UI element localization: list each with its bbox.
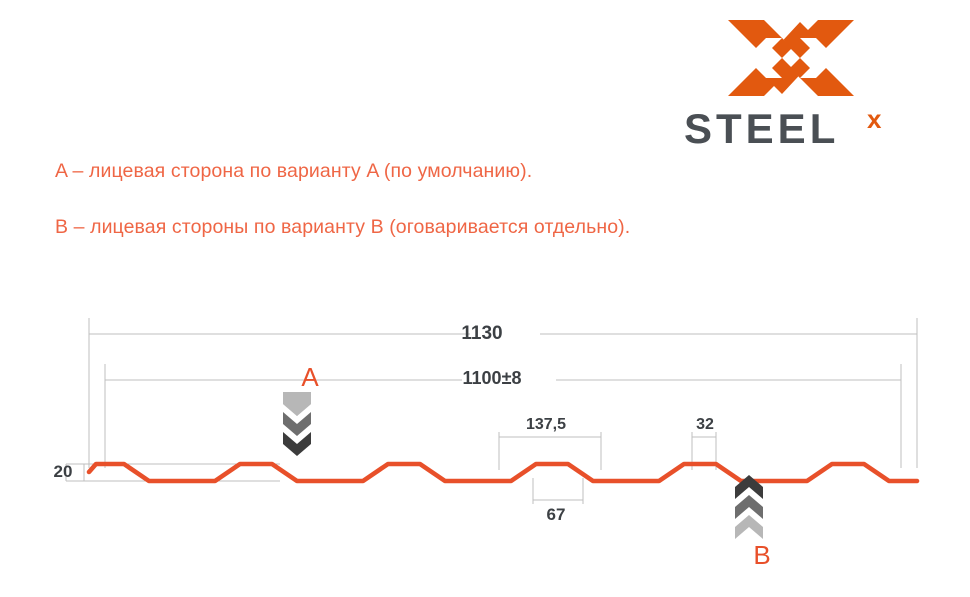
dimension-crest-flat: 32	[683, 416, 727, 434]
dimension-lines	[66, 318, 917, 504]
dimension-pitch: 137,5	[498, 416, 594, 434]
variant-b-label: B	[740, 540, 784, 571]
variant-a-chevrons	[283, 392, 311, 456]
chevron-b-3	[735, 515, 763, 539]
profile-drawing	[0, 0, 970, 597]
dimension-profile-height: 20	[44, 462, 82, 482]
dimension-overall-width: 1130	[432, 323, 532, 345]
variant-a-label: A	[288, 362, 332, 393]
dimension-cover-width: 1100±8	[432, 368, 552, 389]
corrugated-profile-line	[89, 464, 917, 481]
variant-b-chevrons	[735, 475, 763, 539]
dimension-valley-flat: 67	[516, 505, 596, 525]
